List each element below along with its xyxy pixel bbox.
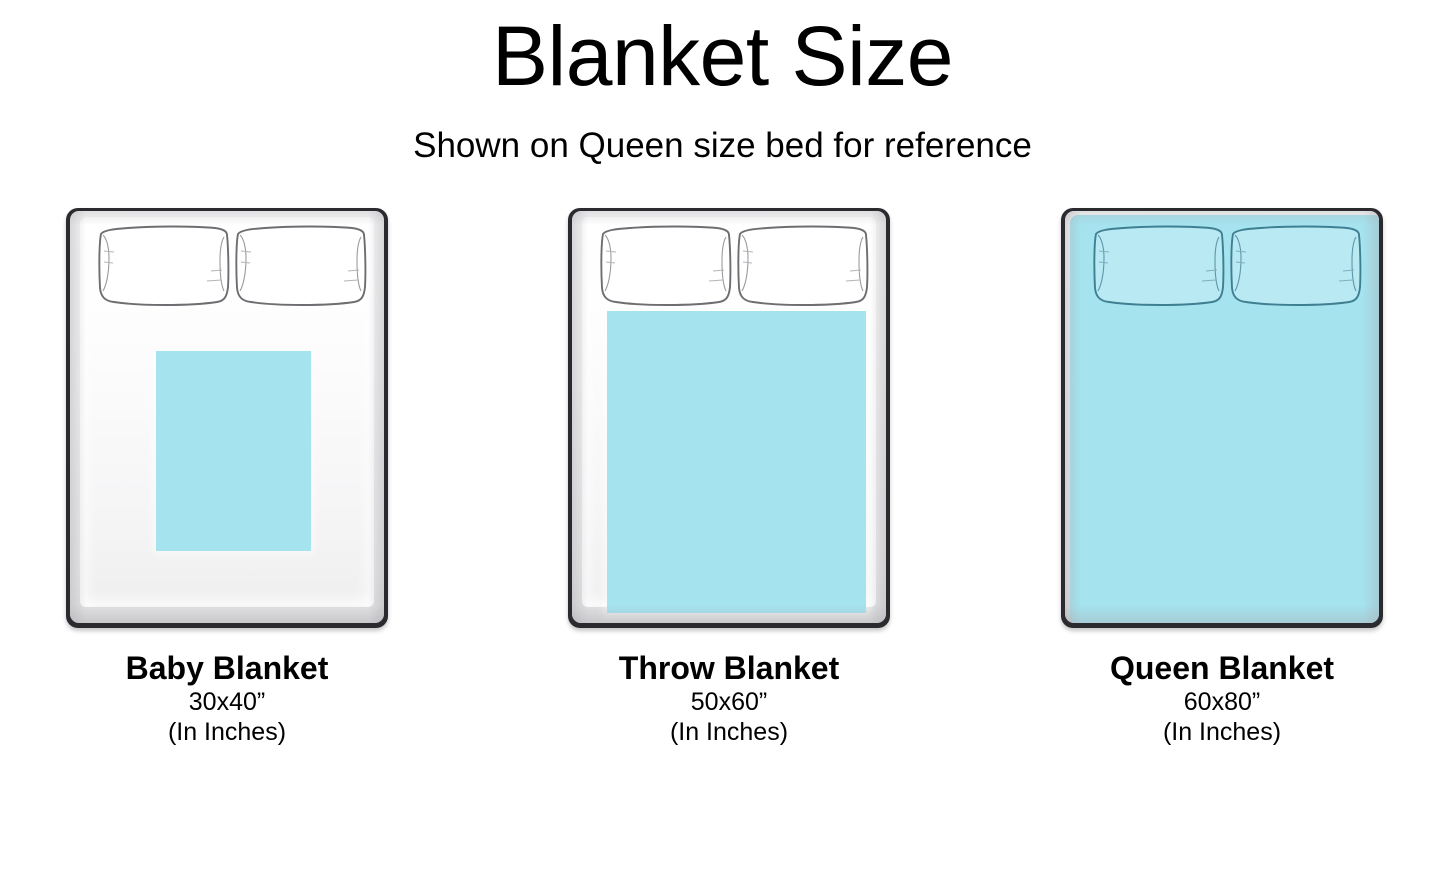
blanket-size: 50x60” (550, 687, 908, 718)
bed-caption: Throw Blanket 50x60” (In Inches) (550, 651, 908, 748)
bed-caption: Baby Blanket 30x40” (In Inches) (48, 651, 406, 748)
bed-column-baby: Baby Blanket 30x40” (In Inches) (66, 208, 388, 628)
bed-icon (568, 208, 890, 628)
blanket-queen (1070, 215, 1379, 623)
mattress (70, 211, 384, 623)
bed-caption: Queen Blanket 60x80” (In Inches) (1043, 651, 1401, 748)
bed-icon (1061, 208, 1383, 628)
blanket-name: Throw Blanket (550, 651, 908, 687)
bed-icon (66, 208, 388, 628)
blanket-name: Baby Blanket (48, 651, 406, 687)
blanket-size: 60x80” (1043, 687, 1401, 718)
blanket-size-infographic: Blanket Size Shown on Queen size bed for… (0, 0, 1445, 878)
bed-column-queen: Queen Blanket 60x80” (In Inches) (1061, 208, 1383, 628)
blanket-throw (607, 311, 866, 613)
blanket-unit: (In Inches) (1043, 717, 1401, 748)
blanket-name: Queen Blanket (1043, 651, 1401, 687)
mattress (1065, 211, 1379, 623)
blanket-unit: (In Inches) (48, 717, 406, 748)
blanket-baby (156, 351, 311, 551)
page-title: Blanket Size (0, 14, 1445, 98)
blanket-size: 30x40” (48, 687, 406, 718)
page-subtitle: Shown on Queen size bed for reference (0, 128, 1445, 163)
blanket-unit: (In Inches) (550, 717, 908, 748)
mattress (572, 211, 886, 623)
bed-column-throw: Throw Blanket 50x60” (In Inches) (568, 208, 890, 628)
